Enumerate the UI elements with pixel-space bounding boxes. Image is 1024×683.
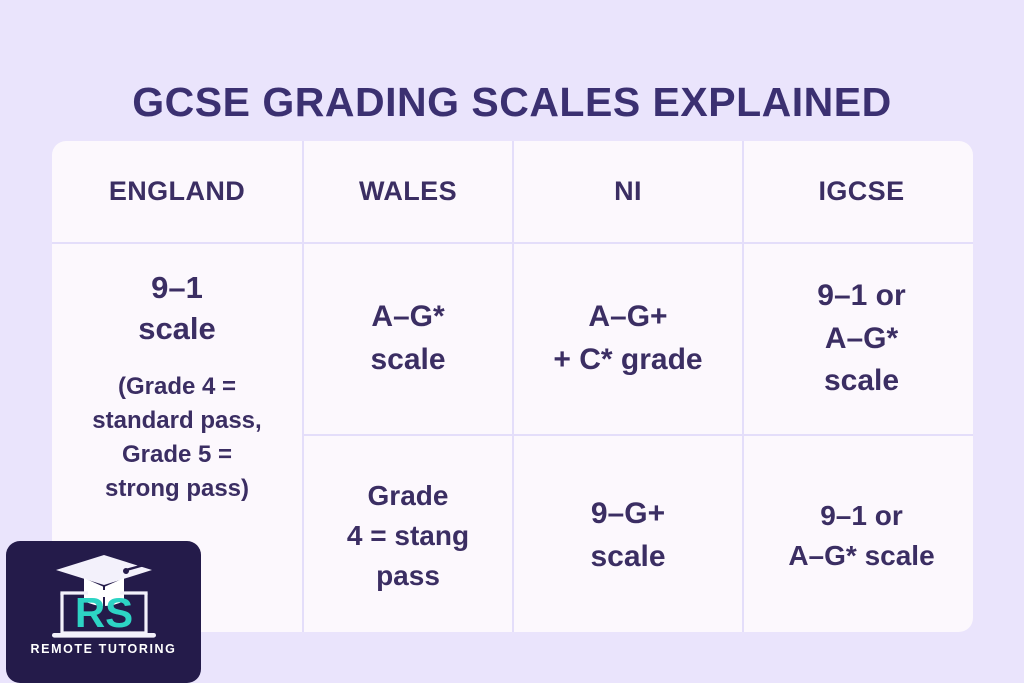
table-cell-wales-row2: Grade4 = stangpass — [304, 436, 512, 632]
page-title: GCSE GRADING SCALES EXPLAINED — [0, 80, 1024, 125]
england-scale-text: 9–1scale — [138, 268, 216, 350]
table-header-england: ENGLAND — [52, 141, 302, 242]
table-header-igcse: IGCSE — [744, 141, 973, 242]
logo-initials: RS — [74, 589, 132, 636]
table-header-wales: WALES — [304, 141, 512, 242]
table-cell-ni-row2: 9–G+scale — [514, 436, 742, 632]
table-cell-wales-row1: A–G*scale — [304, 244, 512, 434]
logo-badge: RS REMOTE TUTORING — [6, 541, 201, 683]
remote-tutoring-logo-icon: RS — [40, 549, 168, 641]
table-cell-ni-row1: A–G++ C* grade — [514, 244, 742, 434]
england-note-text: (Grade 4 =standard pass,Grade 5 =strong … — [92, 370, 261, 506]
table-header-ni: NI — [514, 141, 742, 242]
table-cell-igcse-row2: 9–1 orA–G* scale — [744, 436, 973, 632]
table-cell-igcse-row1: 9–1 orA–G*scale — [744, 244, 973, 434]
logo-caption: REMOTE TUTORING — [31, 642, 177, 656]
